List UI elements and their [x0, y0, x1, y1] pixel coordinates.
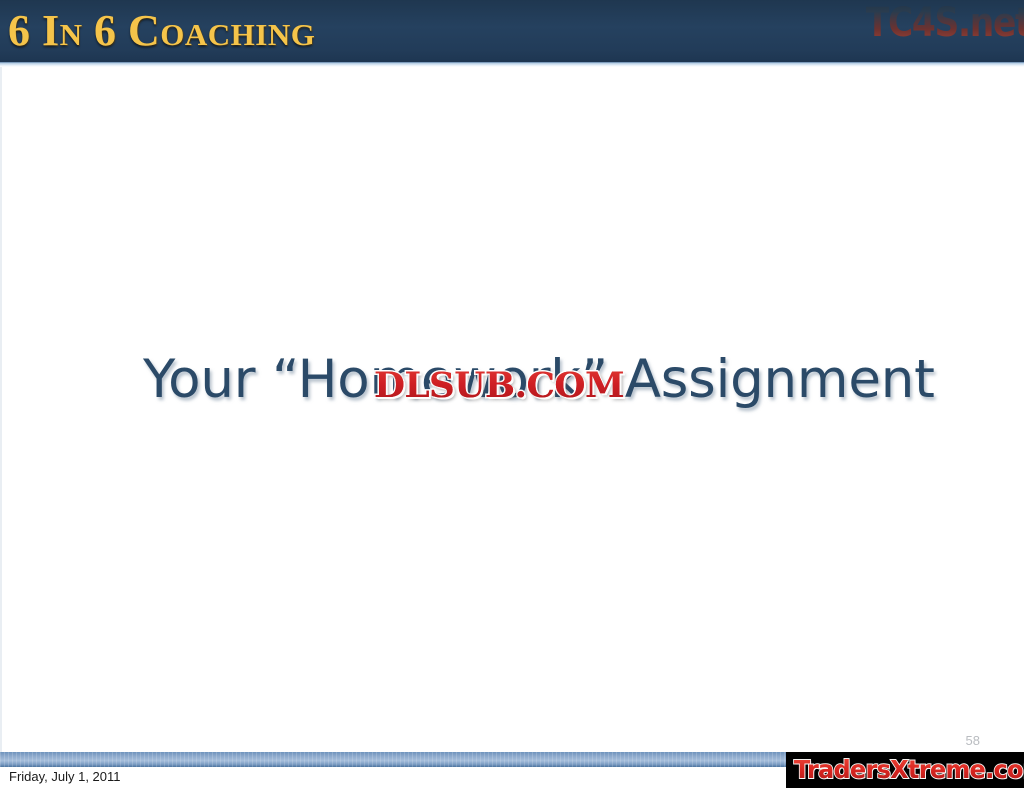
tradersxtreme-logo-box: TradersXtreme.com TradersXtreme.com	[786, 752, 1024, 788]
dlsub-watermark: DLSUB.COM	[374, 364, 624, 408]
footer-date: Friday, July 1, 2011	[9, 768, 121, 786]
presentation-slide: 6 In 6 Coaching TC4S.net Your “Homework”…	[0, 0, 1024, 788]
tc4s-logo: TC4S.net	[866, 0, 1024, 49]
slide-page-number: 58	[966, 733, 980, 749]
slide-header-band: 6 In 6 Coaching TC4S.net	[0, 0, 1024, 64]
tradersxtreme-logo: TradersXtreme.com	[794, 755, 1024, 785]
brand-title: 6 In 6 Coaching	[8, 3, 315, 59]
